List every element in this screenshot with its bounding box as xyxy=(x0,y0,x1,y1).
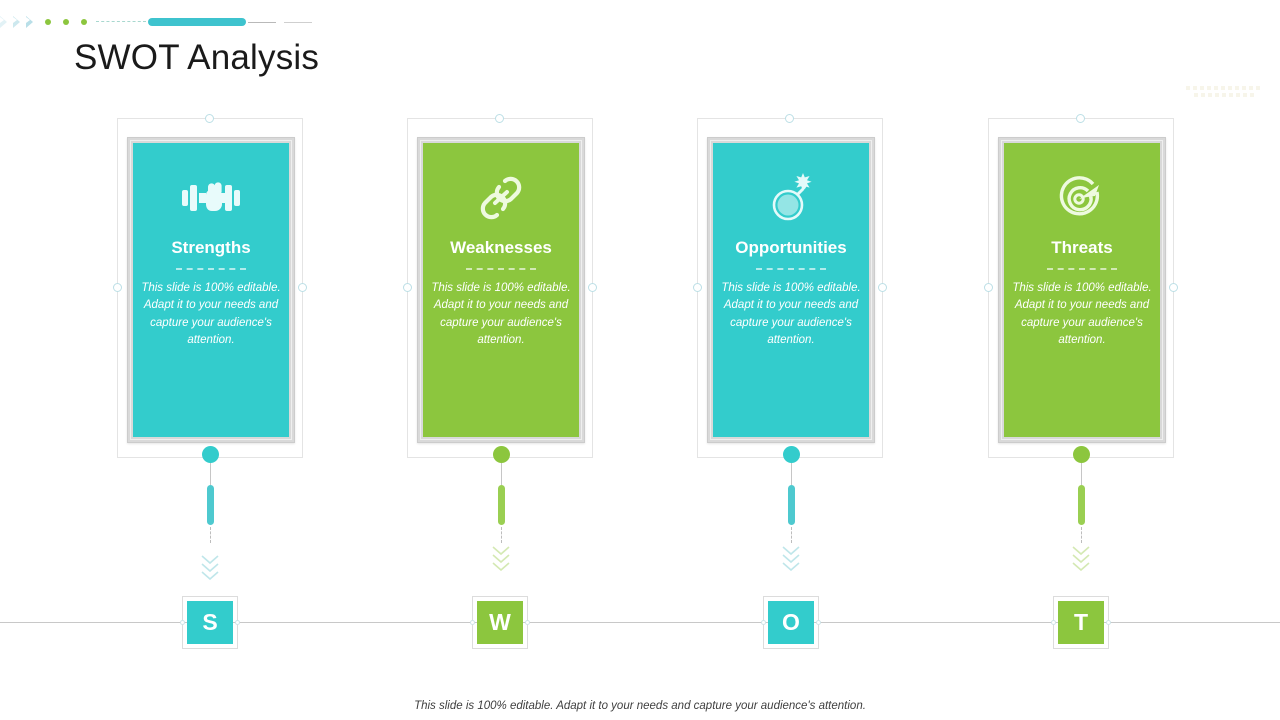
badge-w[interactable]: W xyxy=(472,596,528,649)
card-selection-frame: Weaknesses This slide is 100% editable. … xyxy=(407,118,593,458)
swot-column-opportunities[interactable]: Opportunities This slide is 100% editabl… xyxy=(697,118,883,458)
chevron-right-icon-inner xyxy=(0,17,4,23)
resize-handle-right[interactable] xyxy=(588,283,597,292)
chevron-down-icon xyxy=(200,554,220,580)
target-arrow-icon xyxy=(1050,173,1114,223)
resize-handle-right[interactable] xyxy=(298,283,307,292)
chevron-down-arrows xyxy=(781,545,801,571)
resize-handle-left[interactable] xyxy=(693,283,702,292)
resize-handle-top[interactable] xyxy=(205,114,214,123)
badge-letter: O xyxy=(768,601,814,644)
connector-dashed-line xyxy=(1081,527,1082,543)
thin-line-icon xyxy=(248,22,276,23)
connector-strengths xyxy=(195,446,225,580)
card-divider xyxy=(1047,268,1117,270)
connector-bar xyxy=(1078,485,1085,525)
connector-dot xyxy=(783,446,800,463)
dot-icon xyxy=(81,19,87,25)
badge-handle-left xyxy=(180,620,185,625)
card-picture-frame: Opportunities This slide is 100% editabl… xyxy=(707,137,875,443)
badge-letter: T xyxy=(1058,601,1104,644)
connector-line xyxy=(1081,463,1082,485)
card-panel-opportunities[interactable]: Opportunities This slide is 100% editabl… xyxy=(713,143,869,437)
connector-threats xyxy=(1066,446,1096,571)
card-heading: Weaknesses xyxy=(450,239,552,258)
connector-dot xyxy=(1073,446,1090,463)
connector-weaknesses xyxy=(486,446,516,571)
resize-handle-top[interactable] xyxy=(1076,114,1085,123)
dot-pattern-decoration xyxy=(1186,86,1278,102)
resize-handle-right[interactable] xyxy=(878,283,887,292)
card-body-text: This slide is 100% editable. Adapt it to… xyxy=(1004,280,1160,350)
thin-line-icon xyxy=(284,22,312,23)
resize-handle-right[interactable] xyxy=(1169,283,1178,292)
dumbbell-fist-icon xyxy=(179,173,243,223)
resize-handle-left[interactable] xyxy=(113,283,122,292)
card-panel-weaknesses[interactable]: Weaknesses This slide is 100% editable. … xyxy=(423,143,579,437)
dot-icon xyxy=(63,19,69,25)
dashed-line-icon xyxy=(96,21,146,22)
badge-o[interactable]: O xyxy=(763,596,819,649)
badge-s[interactable]: S xyxy=(182,596,238,649)
connector-dot xyxy=(202,446,219,463)
swot-column-threats[interactable]: Threats This slide is 100% editable. Ada… xyxy=(988,118,1174,458)
badge-handle-right xyxy=(816,620,821,625)
card-selection-frame: Opportunities This slide is 100% editabl… xyxy=(697,118,883,458)
connector-bar xyxy=(788,485,795,525)
card-panel-threats[interactable]: Threats This slide is 100% editable. Ada… xyxy=(1004,143,1160,437)
chevron-down-arrows xyxy=(1071,545,1091,571)
connector-line xyxy=(791,463,792,485)
chevron-down-icon xyxy=(491,545,511,571)
dot-icon xyxy=(45,19,51,25)
page-title: SWOT Analysis xyxy=(74,38,319,78)
chevron-right-icon-inner xyxy=(26,17,30,23)
badge-letter: S xyxy=(187,601,233,644)
connector-line xyxy=(501,463,502,485)
swot-column-strengths[interactable]: Strengths This slide is 100% editable. A… xyxy=(117,118,303,458)
card-selection-frame: Threats This slide is 100% editable. Ada… xyxy=(988,118,1174,458)
connector-line xyxy=(210,463,211,485)
chevron-right-icon-inner xyxy=(13,17,17,23)
connector-bar xyxy=(498,485,505,525)
footer-note: This slide is 100% editable. Adapt it to… xyxy=(0,700,1280,712)
badge-letter: W xyxy=(477,601,523,644)
chevron-down-arrows xyxy=(491,545,511,571)
connector-bar xyxy=(207,485,214,525)
badge-handle-right xyxy=(235,620,240,625)
card-body-text: This slide is 100% editable. Adapt it to… xyxy=(713,280,869,350)
resize-handle-left[interactable] xyxy=(403,283,412,292)
card-heading: Threats xyxy=(1051,239,1112,258)
progress-bar-icon xyxy=(148,18,246,26)
badge-handle-right xyxy=(1106,620,1111,625)
connector-dashed-line xyxy=(791,527,792,543)
card-panel-strengths[interactable]: Strengths This slide is 100% editable. A… xyxy=(133,143,289,437)
swot-column-weaknesses[interactable]: Weaknesses This slide is 100% editable. … xyxy=(407,118,593,458)
top-decoration xyxy=(0,14,280,30)
card-picture-frame: Weaknesses This slide is 100% editable. … xyxy=(417,137,585,443)
chevron-down-arrows xyxy=(200,545,220,580)
resize-handle-top[interactable] xyxy=(785,114,794,123)
resize-handle-left[interactable] xyxy=(984,283,993,292)
badge-t[interactable]: T xyxy=(1053,596,1109,649)
connector-dashed-line xyxy=(501,527,502,543)
badge-handle-right xyxy=(525,620,530,625)
card-picture-frame: Threats This slide is 100% editable. Ada… xyxy=(998,137,1166,443)
connector-dashed-line xyxy=(210,527,211,543)
card-heading: Opportunities xyxy=(735,239,846,258)
badge-handle-left xyxy=(761,620,766,625)
card-divider xyxy=(176,268,246,270)
swot-analysis-slide: SWOT Analysis xyxy=(0,0,1280,720)
card-heading: Strengths xyxy=(171,239,250,258)
card-body-text: This slide is 100% editable. Adapt it to… xyxy=(133,280,289,350)
badge-handle-left xyxy=(470,620,475,625)
badge-handle-left xyxy=(1051,620,1056,625)
card-divider xyxy=(756,268,826,270)
card-selection-frame: Strengths This slide is 100% editable. A… xyxy=(117,118,303,458)
chain-link-icon xyxy=(469,173,533,223)
card-picture-frame: Strengths This slide is 100% editable. A… xyxy=(127,137,295,443)
connector-dot xyxy=(493,446,510,463)
bomb-icon xyxy=(759,173,823,223)
card-divider xyxy=(466,268,536,270)
card-body-text: This slide is 100% editable. Adapt it to… xyxy=(423,280,579,350)
connector-opportunities xyxy=(776,446,806,571)
chevron-down-icon xyxy=(1071,545,1091,571)
resize-handle-top[interactable] xyxy=(495,114,504,123)
chevron-down-icon xyxy=(781,545,801,571)
